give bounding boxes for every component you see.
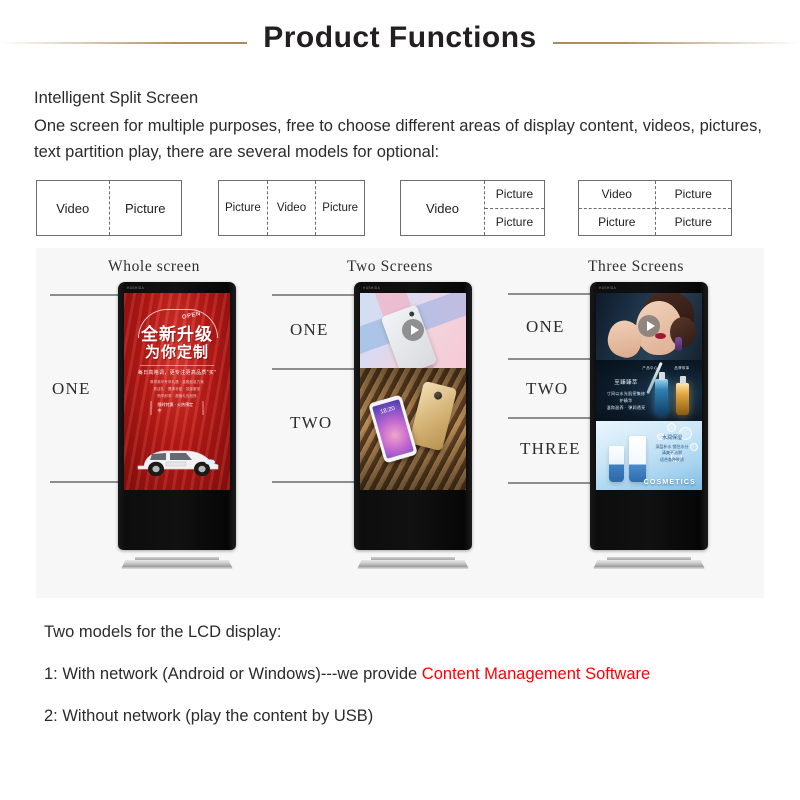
ad-car-advertisement: OPEN 全新升级 为你定制 每日高格调，更专注更高品质"买" 尊享新车专享礼遇… [124,293,230,490]
mode2-cell-picture-right: Picture [315,181,364,235]
ad-car-subhead: 为你定制 [124,341,230,362]
kiosk-two-screens: HUSHIDA [354,282,472,570]
mode4-left-stack: Video Picture [579,181,655,235]
kiosk-stand [357,557,469,570]
kiosk-bezel-logo: HUSHIDA [599,286,616,290]
ad-serum-bottle-blue [655,379,668,415]
mode3-cell-video: Video [401,181,484,235]
ad-serum-copy: 至臻臻萃 寸间以水光肌密集修护精华 温和滋养 · 弹润透亮 [606,380,646,411]
intro-heading: Intelligent Split Screen [34,86,784,111]
ad-serum-nav: 产品中心 品牌故事 [634,365,698,370]
ad-serum-bottle-gold-cap [680,376,686,384]
ad-cos-desc: 深层补水 锁住水分 [655,444,688,449]
intro-body: One screen for multiple purposes, free t… [34,113,779,165]
notes-item-2: 2: Without network (play the content by … [44,704,784,728]
ad-car-vehicle-illustration [132,436,222,476]
mode3-right-stack: Picture Picture [484,181,544,235]
tier-label-g3-three: THREE [520,439,581,459]
kiosk-screen-three: 产品中心 品牌故事 至臻臻萃 寸间以水光肌密集修护精华 温和滋养 · 弹润透亮 [596,293,702,490]
kiosk-stand [121,557,233,570]
tier-label-g2-one: ONE [290,320,329,340]
tier-label-g3-two: TWO [526,379,568,399]
ad-wood-white-phone: 18:20 [368,394,418,463]
kiosk-three-screens: HUSHIDA [590,282,708,570]
kiosk-whole-screen: HUSHIDA OPEN 全新升级 为你定制 每日高格调，更专注更高品质"买" … [118,282,236,570]
split-mode-diagram-1: Video Picture [36,180,182,236]
screen-pane-three: 水润保湿 深层补水 锁住水分 清爽不油腻 适合各种肤质 COSMETICS [596,421,702,490]
ad-cos-bubble-2 [667,423,676,432]
ad-pastel-camera-lens-icon [409,311,415,317]
ad-serum-note: 温和滋养 · 弹润透亮 [607,405,646,410]
kiosk-bezel-logo: HUSHIDA [363,286,380,290]
ad-car-fineprint-3: 购车即享 · 超值礼包回馈 [124,393,230,398]
intro-section: Intelligent Split Screen One screen for … [34,86,784,165]
kiosk-stand [593,557,705,570]
split-mode-diagram-4: Video Picture Picture Picture [578,180,732,236]
kiosk-body: HUSHIDA [354,282,472,550]
mode3-cell-picture-top: Picture [485,181,544,208]
tier-label-g1-one: ONE [52,379,91,399]
split-mode-diagrams: Video Picture Picture Video Picture Vide… [0,180,800,238]
kiosk-body: HUSHIDA OPEN 全新升级 为你定制 每日高格调，更专注更高品质"买" … [118,282,236,550]
ad-cos-tube-left [609,446,624,482]
ad-car-fineprint-2: 到店礼 · 置换补贴 · 延保服务 [124,386,230,391]
ad-serum-bottle-gold [676,383,689,415]
ad-cos-copy: 水润保湿 深层补水 锁住水分 清爽不油腻 适合各种肤质 [650,435,694,463]
kiosk-screen-two: 18:20 [360,293,466,490]
mode4-cell-picture-bottom-left: Picture [579,208,655,236]
notes-item-1-highlight: Content Management Software [422,665,650,683]
kiosk-stand-base [357,560,469,569]
tier-label-g3-one: ONE [526,317,565,337]
ad-serum-title: 至臻臻萃 [606,380,646,387]
mode4-right-stack: Picture Picture [655,181,732,235]
ad-model-hair-bun [670,317,696,347]
ad-car-rule [140,365,214,366]
ad-serum-nav-item-2: 品牌故事 [674,365,689,370]
ad-cos-bullet-2: 适合各种肤质 [660,457,684,462]
notes-item-1-prefix: 1: With network (Android or Windows)---w… [44,665,422,683]
mode4-cell-picture-top-right: Picture [656,181,732,208]
split-mode-diagram-2: Picture Video Picture [218,180,365,236]
mode3-cell-picture-bottom: Picture [485,208,544,236]
ad-wood-gold-phone [409,381,457,451]
mode2-cell-video: Video [267,181,316,235]
split-mode-diagram-3: Video Picture Picture [400,180,545,236]
kiosk-bezel-logo: HUSHIDA [127,286,144,290]
ad-cosmetics-tubes: 水润保湿 深层补水 锁住水分 清爽不油腻 适合各种肤质 COSMETICS [596,421,702,490]
ad-serum-nav-item-1: 产品中心 [642,365,657,370]
ad-cos-bullet-1: 清爽不油腻 [662,450,682,455]
screen-pane-one [596,293,702,360]
kiosk-screen-whole: OPEN 全新升级 为你定制 每日高格调，更专注更高品质"买" 尊享新车专享礼遇… [124,293,230,490]
ad-cos-title: 水润保湿 [650,435,694,442]
page-header: Product Functions [0,0,800,78]
kiosk-body: HUSHIDA [590,282,708,550]
notes-lead: Two models for the LCD display: [44,620,784,644]
page-title: Product Functions [0,16,800,60]
kiosk-stand-base [121,560,233,569]
screen-pane-two: 18:20 [360,368,466,490]
ad-car-subtext: 每日高格调，更专注更高品质"买" [124,369,230,376]
ad-car-badge: 限时特惠 · 火热预定中 [151,401,204,415]
ad-serum-bottles: 产品中心 品牌故事 至臻臻萃 寸间以水光肌密集修护精华 温和滋养 · 弹润透亮 [596,360,702,421]
mode1-cell-video: Video [37,181,109,235]
group-caption-three-screens: Three Screens [508,258,764,276]
mode4-cell-video: Video [579,181,655,208]
group-caption-three-screens-text: Three Screens [588,258,684,275]
screen-pane-one [360,293,466,368]
showcase-group-whole-screen: Whole screen ONE HUSHIDA OPEN 全新升级 为你定制 [36,248,272,598]
kiosk-stand-base [593,560,705,569]
ad-car-fineprint-1: 尊享新车专享礼遇 · 金融贴息方案 [124,379,230,384]
showcase-group-three-screens: Three Screens ONE TWO THREE HUSHIDA [508,248,764,598]
ad-cos-brand-wordmark: COSMETICS [644,479,696,486]
ad-wood-phone-clock: 18:20 [373,404,402,417]
ad-cos-tube-right [629,436,646,482]
group-caption-whole-screen: Whole screen [36,258,272,276]
screen-pane-one: OPEN 全新升级 为你定制 每日高格调，更专注更高品质"买" 尊享新车专享礼遇… [124,293,230,490]
ad-serum-bottle-blue-cap [659,372,665,380]
mode2-cell-picture-left: Picture [219,181,267,235]
ad-serum-desc: 寸间以水光肌密集修护精华 [607,391,646,403]
showcase-group-two-screens: Two Screens ONE TWO HUSHIDA [272,248,508,598]
group-caption-two-screens: Two Screens [272,258,508,276]
ad-model-earring [675,337,682,351]
ad-wood-phones: 18:20 [360,368,466,490]
tier-label-g2-two: TWO [290,413,332,433]
kiosk-showcase-panel: Whole screen ONE HUSHIDA OPEN 全新升级 为你定制 [36,248,764,598]
notes-item-1: 1: With network (Android or Windows)---w… [44,662,784,686]
ad-wood-camera-lens-icon [433,391,443,401]
mode1-cell-picture: Picture [109,181,182,235]
bottom-notes: Two models for the LCD display: 1: With … [44,620,784,746]
mode4-cell-picture-bottom-right: Picture [656,208,732,236]
page-title-text: Product Functions [247,16,553,60]
ad-wood-phone-display: 18:20 [372,399,414,459]
screen-pane-two: 产品中心 品牌故事 至臻臻萃 寸间以水光肌密集修护精华 温和滋养 · 弹润透亮 [596,360,702,421]
